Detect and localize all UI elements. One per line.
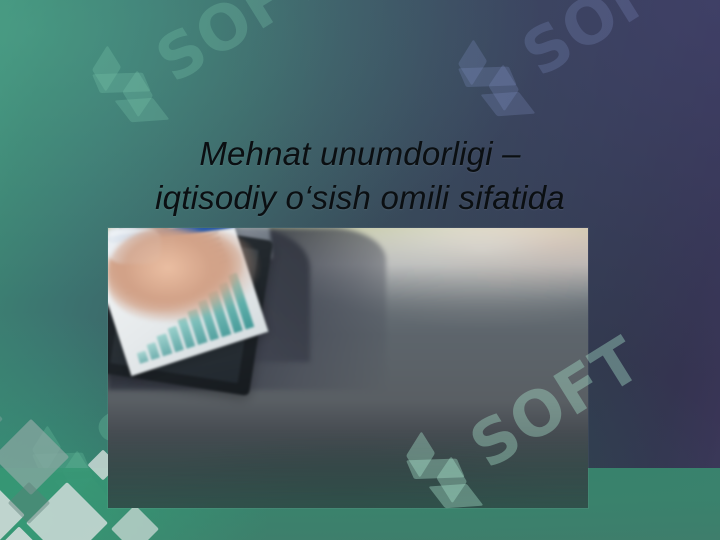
business-meeting-photo	[108, 228, 588, 508]
title-line-1: Mehnat unumdorligi –	[199, 135, 520, 172]
decorative-diamond	[0, 419, 69, 495]
decorative-diamond	[0, 395, 3, 443]
chart-bar	[146, 342, 160, 360]
decorative-diamond	[111, 505, 159, 540]
slide-title: Mehnat unumdorligi – iqtisodiy o‘sish om…	[0, 132, 720, 220]
title-line-2: iqtisodiy o‘sish omili sifatida	[24, 176, 696, 220]
chart-bar	[136, 350, 148, 363]
presentation-slide: SOFT SOFT SOFT	[0, 0, 720, 540]
right-hand	[108, 228, 233, 323]
